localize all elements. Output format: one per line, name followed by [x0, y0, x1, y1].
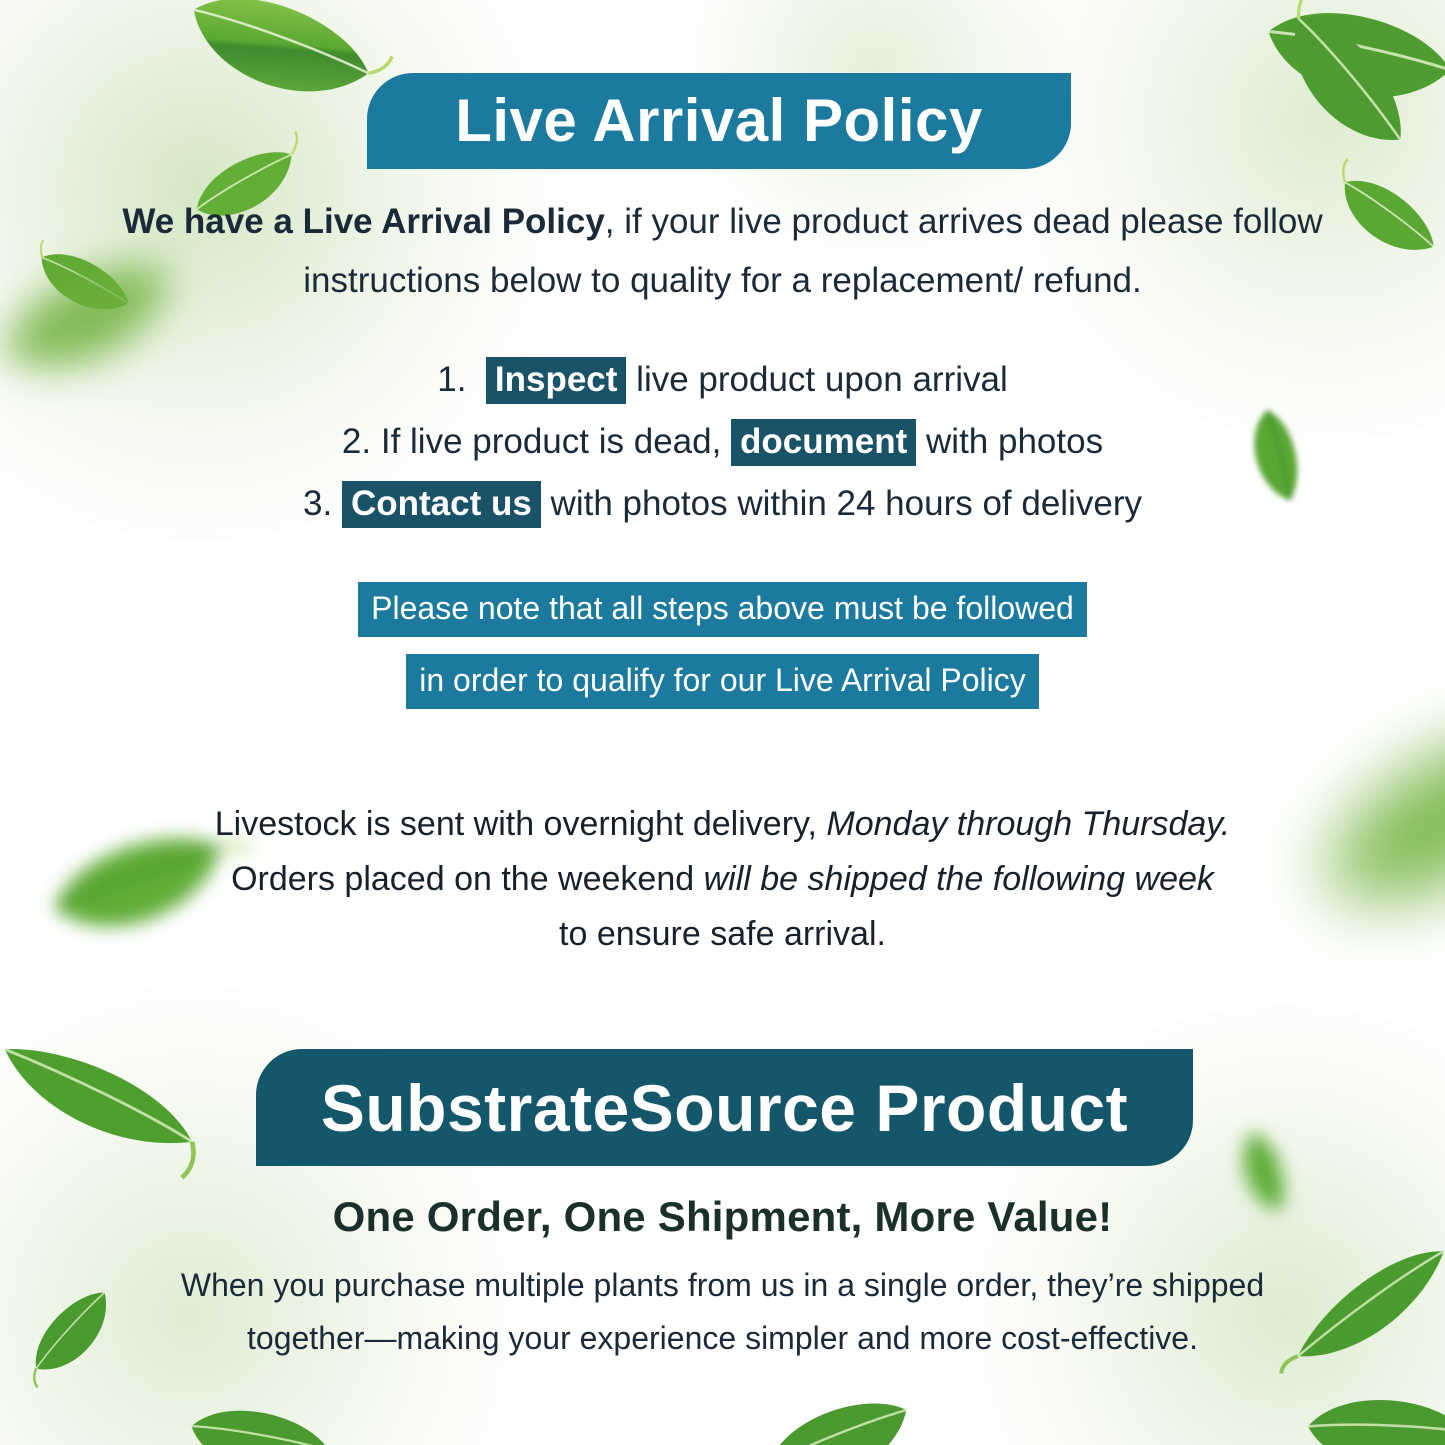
step-1-after: live product upon arrival: [636, 360, 1008, 399]
policy-note: Please note that all steps above must be…: [0, 582, 1445, 726]
shipping-info: Livestock is sent with overnight deliver…: [0, 797, 1445, 962]
intro-line-2: instructions below to quality for a repl…: [0, 251, 1445, 310]
product-description-line-2: together—making your experience simpler …: [0, 1312, 1445, 1365]
shipping-line-1-plain: Livestock is sent with overnight deliver…: [215, 805, 817, 843]
product-tagline: One Order, One Shipment, More Value!: [0, 1193, 1445, 1241]
step-2-after: with photos: [926, 422, 1103, 461]
live-arrival-policy-banner: Live Arrival Policy: [367, 73, 1071, 169]
step-3-after: with photos within 24 hours of delivery: [551, 484, 1142, 523]
intro-lead-bold: We have a Live Arrival Policy: [122, 202, 604, 241]
product-description-line-1: When you purchase multiple plants from u…: [0, 1259, 1445, 1312]
substrate-source-product-banner: SubstrateSource Product: [256, 1049, 1193, 1166]
shipping-line-1-italic: Monday through Thursday.: [826, 805, 1230, 843]
policy-note-line-2: in order to qualify for our Live Arrival…: [406, 654, 1038, 709]
intro-line-1: We have a Live Arrival Policy, if your l…: [0, 192, 1445, 251]
policy-note-line-1: Please note that all steps above must be…: [358, 582, 1087, 637]
steps-list: 1. Inspect live product upon arrival 2. …: [0, 349, 1445, 535]
intro-line-1-rest: , if your live product arrives dead plea…: [605, 202, 1323, 241]
step-item-2: 2. If live product is dead, document wit…: [0, 411, 1445, 473]
shipping-line-2-italic: will be shipped the following week: [704, 860, 1214, 898]
step-1-number: 1.: [437, 360, 466, 399]
step-item-1: 1. Inspect live product upon arrival: [0, 349, 1445, 411]
step-3-highlight: Contact us: [342, 481, 541, 528]
product-description: When you purchase multiple plants from u…: [0, 1259, 1445, 1365]
shipping-line-1: Livestock is sent with overnight deliver…: [0, 797, 1445, 852]
step-3-number: 3.: [303, 484, 332, 523]
step-2-before: If live product is dead,: [381, 422, 721, 461]
step-item-3: 3. Contact us with photos within 24 hour…: [0, 473, 1445, 535]
step-2-highlight: document: [731, 419, 916, 466]
step-1-highlight: Inspect: [486, 357, 627, 404]
step-2-number: 2.: [342, 422, 371, 461]
content-layer: Live Arrival Policy We have a Live Arriv…: [0, 0, 1445, 1445]
shipping-line-2-plain: Orders placed on the weekend: [231, 860, 694, 898]
intro-paragraph: We have a Live Arrival Policy, if your l…: [0, 192, 1445, 310]
shipping-line-3: to ensure safe arrival.: [0, 907, 1445, 962]
substrate-source-product-title: SubstrateSource Product: [321, 1075, 1128, 1141]
policy-infographic: Live Arrival Policy We have a Live Arriv…: [0, 0, 1445, 1445]
shipping-line-2: Orders placed on the weekend will be shi…: [0, 852, 1445, 907]
live-arrival-policy-title: Live Arrival Policy: [455, 91, 983, 151]
